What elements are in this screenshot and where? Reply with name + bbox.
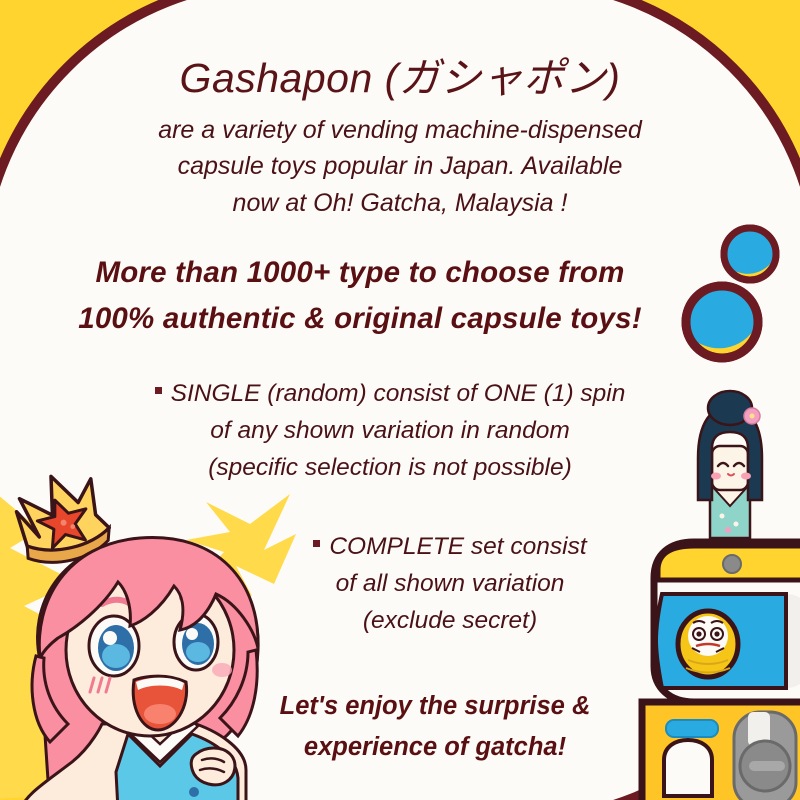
bullet-complete-line-1: COMPLETE set consist — [240, 528, 660, 565]
closing-block: Let's enjoy the surprise & experience of… — [230, 686, 640, 768]
bullet-complete-text-1: COMPLETE set consist — [329, 533, 586, 560]
bullet-square-icon — [155, 387, 162, 394]
headline-line-1: More than 1000+ type to choose from — [40, 250, 680, 296]
poster-text: Gashapon (ガシャポン) are a variety of vendin… — [0, 0, 800, 800]
bullet-single-line-1: SINGLE (random) consist of ONE (1) spin — [120, 375, 660, 412]
bullet-single-text-1: SINGLE (random) consist of ONE (1) spin — [171, 380, 626, 407]
bullet-complete-line-2: of all shown variation — [240, 565, 660, 602]
closing-line-1: Let's enjoy the surprise & — [230, 686, 640, 727]
page-title: Gashapon (ガシャポン) — [60, 56, 740, 101]
bullet-single: SINGLE (random) consist of ONE (1) spin … — [120, 375, 660, 487]
bullet-single-line-2: of any shown variation in random — [120, 412, 660, 449]
intro-paragraph: are a variety of vending machine-dispens… — [110, 112, 690, 221]
bullet-complete-line-3: (exclude secret) — [240, 602, 660, 639]
intro-line-3: now at Oh! Gatcha, Malaysia ! — [110, 185, 690, 221]
bullet-complete: COMPLETE set consist of all shown variat… — [240, 528, 660, 640]
intro-line-1: are a variety of vending machine-dispens… — [110, 112, 690, 148]
closing-line-2: experience of gatcha! — [230, 727, 640, 768]
bullet-single-line-3: (specific selection is not possible) — [120, 449, 660, 486]
headline-block: More than 1000+ type to choose from 100%… — [40, 250, 680, 341]
headline-line-2: 100% authentic & original capsule toys! — [40, 296, 680, 342]
bullet-square-icon — [313, 540, 320, 547]
intro-line-2: capsule toys popular in Japan. Available — [110, 148, 690, 184]
poster-root: Gashapon (ガシャポン) are a variety of vendin… — [0, 0, 800, 800]
